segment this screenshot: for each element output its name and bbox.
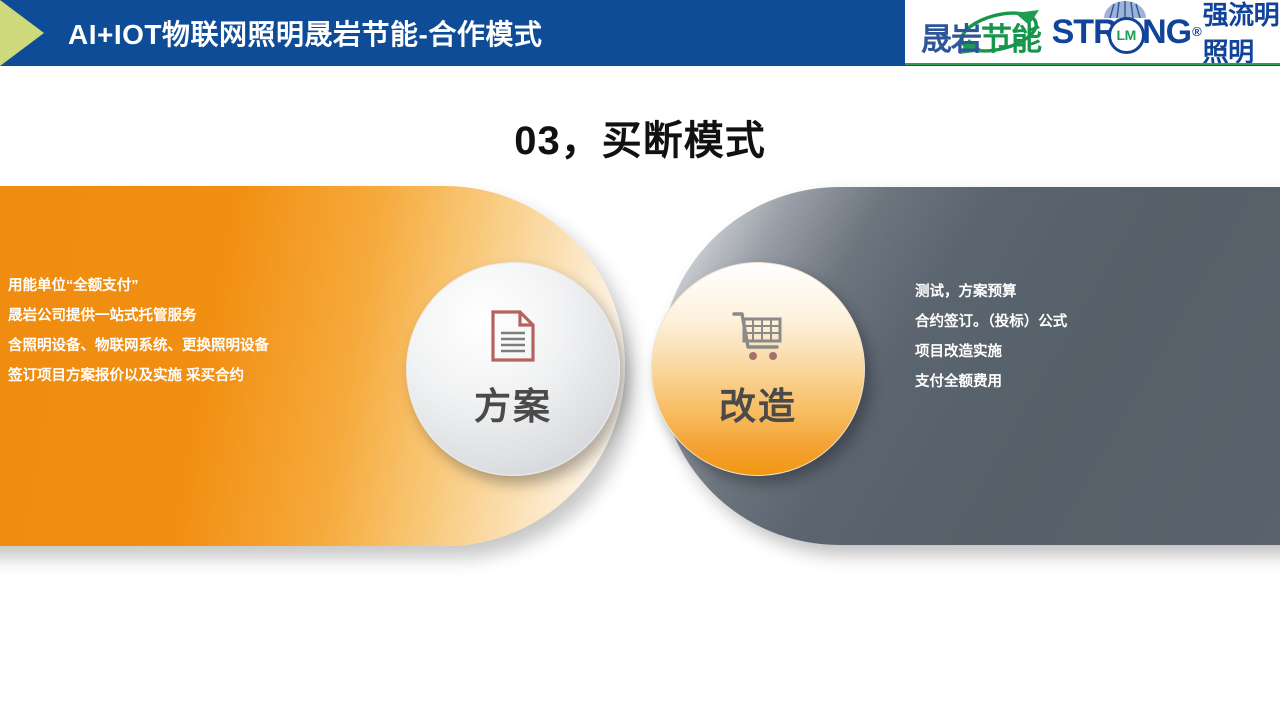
circle-retrofit-label: 改造 <box>719 376 797 430</box>
lm-circle-icon: LM <box>1108 17 1145 54</box>
left-panel-line-1: 用能单位“全额支付” <box>8 271 368 301</box>
shopping-cart-icon <box>730 308 786 364</box>
right-panel-line-1: 测试，方案预算 <box>915 277 1067 307</box>
left-panel-text-block: 用能单位“全额支付” 晟岩公司提供一站式托管服务 含照明设备、物联网系统、更换照… <box>8 271 368 391</box>
logo-chinese-lockup: 晟岩节能 <box>921 5 1046 59</box>
circle-plan: 方案 <box>406 262 620 476</box>
left-panel-line-2: 晟岩公司提供一站式托管服务 <box>8 301 368 331</box>
blue-fan-icon <box>1102 1 1148 19</box>
chevron-right-icon <box>0 0 44 66</box>
right-panel-line-4: 支付全额费用 <box>915 367 1067 397</box>
logo-english-lockup: STRONG LM ® 强流明照明 <box>1052 5 1280 59</box>
circle-plan-label: 方案 <box>474 376 552 430</box>
right-panel-text-block: 测试，方案预算 合约签订。（投标）公式 项目改造实施 支付全额费用 <box>915 277 1067 397</box>
circle-retrofit: 改造 <box>651 262 865 476</box>
right-panel-line-2: 合约签订。（投标）公式 <box>915 307 1067 337</box>
registered-mark: ® <box>1192 24 1202 39</box>
logo-slogan: 强流明照明 <box>1203 0 1280 65</box>
slide-canvas: AI+IOT物联网照明晟岩节能-合作模式 晟岩节能 STRONG LM ® 强流… <box>0 0 1280 720</box>
document-icon <box>490 308 536 364</box>
right-panel-line-3: 项目改造实施 <box>915 337 1067 367</box>
company-logo: 晟岩节能 STRONG LM ® 强流明照明 <box>905 0 1280 65</box>
header-title: AI+IOT物联网照明晟岩节能-合作模式 <box>68 13 542 53</box>
logo-cn-part-a: 晟岩 <box>921 22 981 57</box>
lm-circle-text: LM <box>1117 27 1136 43</box>
strong-text-after: NG <box>1142 13 1191 51</box>
logo-cn-part-b: 节能 <box>981 22 1041 57</box>
left-panel-line-3: 含照明设备、物联网系统、更换照明设备 <box>8 331 368 361</box>
logo-chinese-text: 晟岩节能 <box>921 14 1073 59</box>
left-panel-line-4: 签订项目方案报价以及实施 采买合约 <box>8 361 368 391</box>
page-title: 03，买断模式 <box>0 108 1280 166</box>
